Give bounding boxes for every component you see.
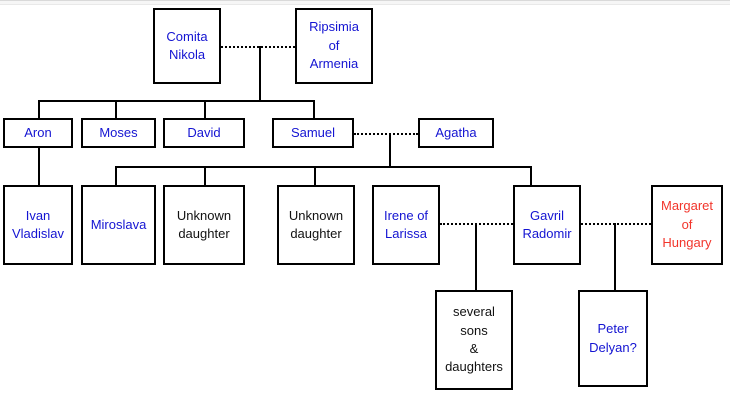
node-label-line: Hungary [662, 234, 711, 252]
child-drop-g2-2 [314, 166, 316, 185]
child-drop-peter-delyan-drop [614, 223, 616, 290]
child-drop-g2-1 [204, 166, 206, 185]
node-label-line: daughter [290, 225, 341, 243]
node-label-line: Delyan? [589, 339, 637, 357]
node-gavril-radomir[interactable]: GavrilRadomir [513, 185, 581, 265]
node-label-line: Agatha [435, 124, 476, 142]
node-label-line: Margaret [661, 197, 713, 215]
node-label-line: several [453, 303, 495, 321]
family-tree-diagram: ComitaNikolaRipsimiaofArmeniaAronMosesDa… [0, 0, 730, 407]
node-agatha[interactable]: Agatha [418, 118, 494, 148]
child-drop-g2-0 [115, 166, 117, 185]
node-label-line: Nikola [169, 46, 205, 64]
node-comita-nikola[interactable]: ComitaNikola [153, 8, 221, 84]
sibling-bus-generation-1 [38, 100, 313, 102]
parent-drop-nikola-ripsimia [259, 46, 261, 100]
node-label-line: Comita [166, 28, 207, 46]
node-label-line: & [470, 340, 479, 358]
node-david[interactable]: David [163, 118, 245, 148]
node-aron[interactable]: Aron [3, 118, 73, 148]
marriage-link-samuel-agatha [354, 133, 418, 135]
node-label-line: Unknown [177, 207, 231, 225]
node-label-line: Unknown [289, 207, 343, 225]
node-label-line: Aron [24, 124, 51, 142]
parent-drop-samuel-agatha [389, 133, 391, 166]
node-label-line: Ripsimia [309, 18, 359, 36]
node-label-line: Samuel [291, 124, 335, 142]
top-divider-rule [0, 0, 730, 5]
node-label-line: of [329, 37, 340, 55]
node-unknown-daughter-2[interactable]: Unknowndaughter [277, 185, 355, 265]
marriage-link-gavril-margaret [581, 223, 651, 225]
node-label-line: Gavril [530, 207, 564, 225]
node-label-line: Armenia [310, 55, 358, 73]
node-label-line: sons [460, 322, 487, 340]
child-drop-g2-3 [530, 166, 532, 185]
marriage-link-nikola-ripsimia [221, 46, 295, 48]
node-label-line: of [682, 216, 693, 234]
node-ivan-vladislav[interactable]: IvanVladislav [3, 185, 73, 265]
node-label-line: Peter [597, 320, 628, 338]
node-margaret-of-hungary[interactable]: MargaretofHungary [651, 185, 723, 265]
node-label-line: David [187, 124, 220, 142]
node-several-sons-and-daughters[interactable]: severalsons&daughters [435, 290, 513, 390]
node-moses[interactable]: Moses [81, 118, 156, 148]
node-unknown-daughter-1[interactable]: Unknowndaughter [163, 185, 245, 265]
node-label-line: Radomir [522, 225, 571, 243]
node-ripsimia-of-armenia[interactable]: RipsimiaofArmenia [295, 8, 373, 84]
node-label-line: daughters [445, 358, 503, 376]
child-drop-g1-2 [204, 100, 206, 118]
child-drop-g1-3 [313, 100, 315, 118]
node-label-line: Miroslava [91, 216, 147, 234]
child-drop-several-sons-drop [475, 223, 477, 290]
node-label-line: daughter [178, 225, 229, 243]
child-drop-g1-1 [115, 100, 117, 118]
node-irene-of-larissa[interactable]: Irene ofLarissa [372, 185, 440, 265]
sibling-bus-generation-2 [115, 166, 530, 168]
node-miroslava[interactable]: Miroslava [81, 185, 156, 265]
node-label-line: Vladislav [12, 225, 64, 243]
node-peter-delyan[interactable]: PeterDelyan? [578, 290, 648, 387]
node-label-line: Ivan [26, 207, 51, 225]
node-label-line: Irene of [384, 207, 428, 225]
node-samuel[interactable]: Samuel [272, 118, 354, 148]
node-label-line: Moses [99, 124, 137, 142]
child-drop-g1-0 [38, 100, 40, 118]
child-drop-aron-to-ivan [38, 148, 40, 185]
node-label-line: Larissa [385, 225, 427, 243]
